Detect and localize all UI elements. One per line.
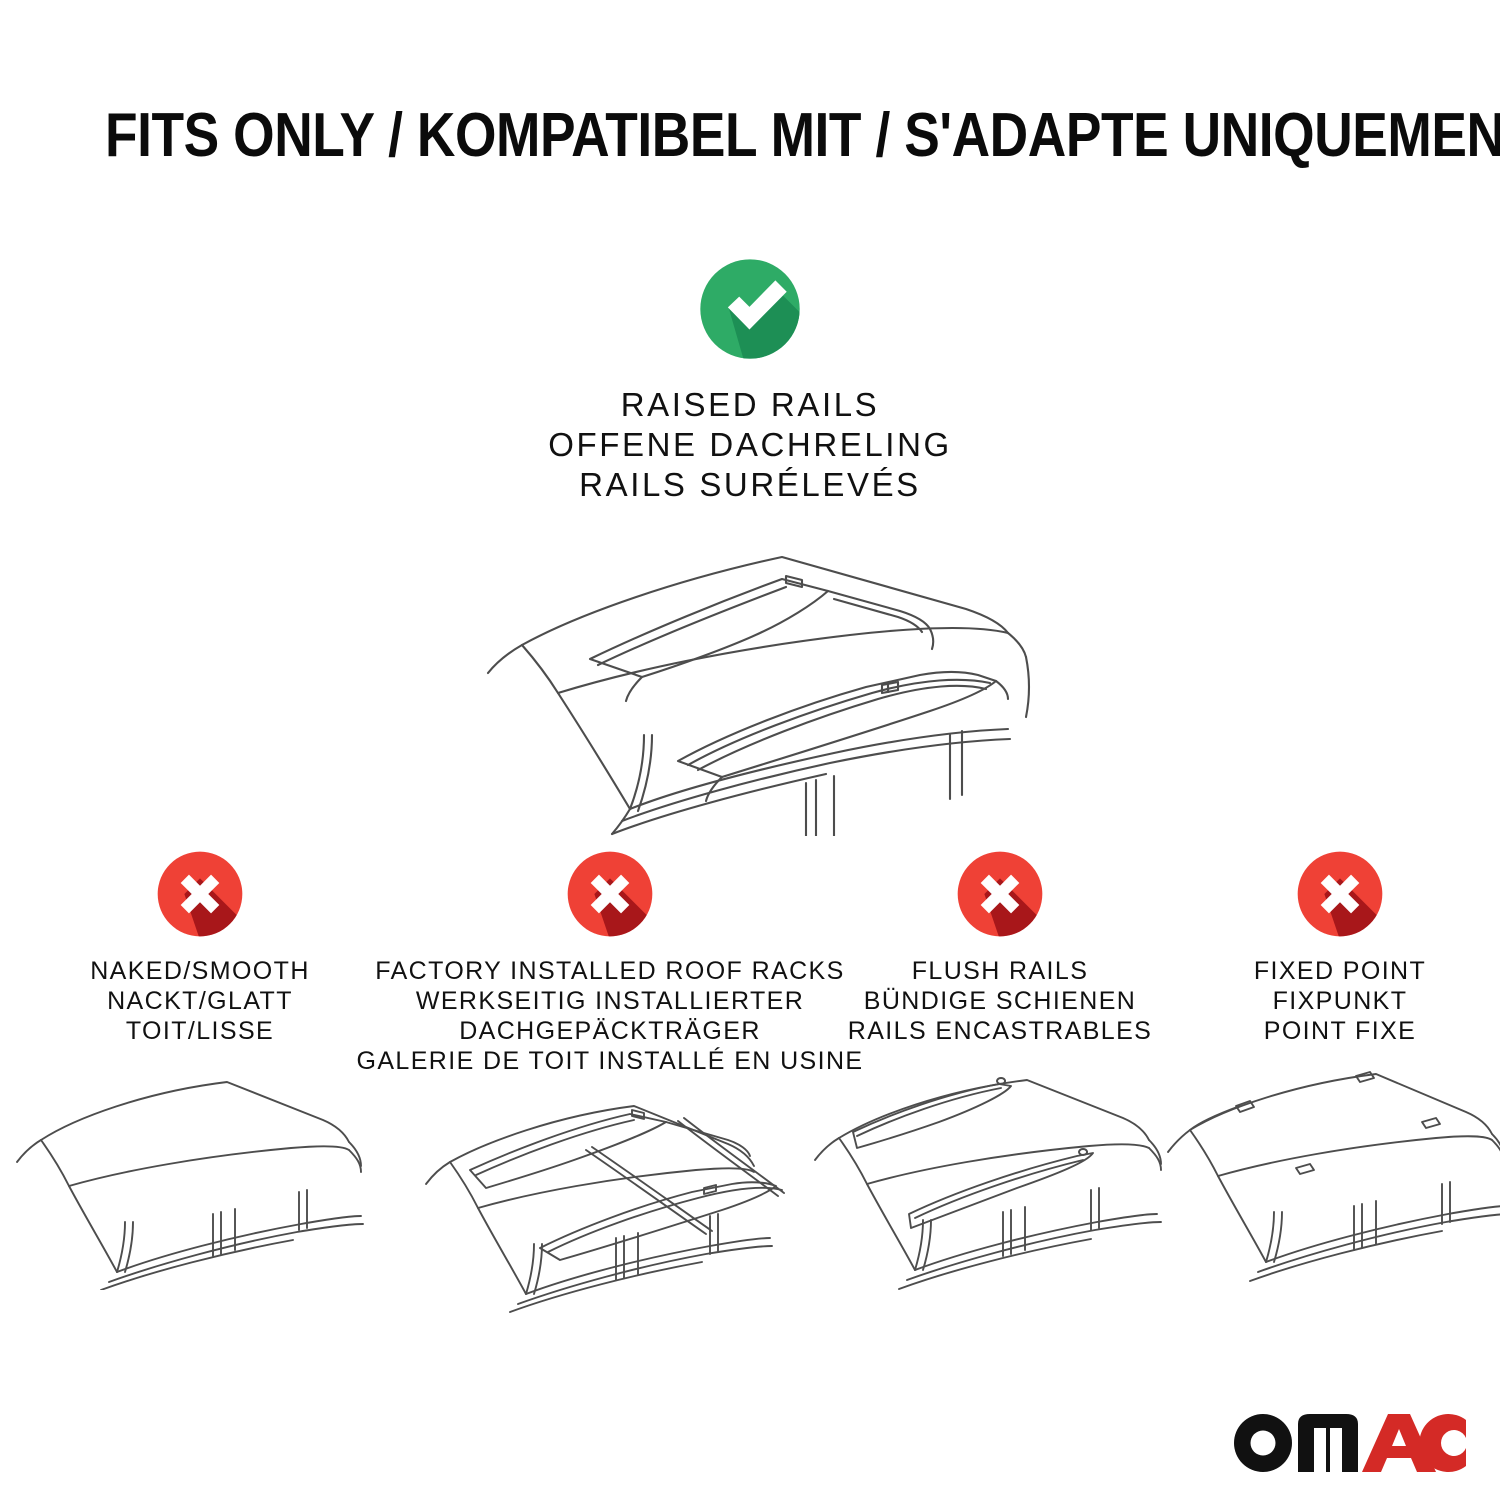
page-title: FITS ONLY / KOMPATIBEL MIT / S'ADAPTE UN… xyxy=(105,103,1395,169)
compatible-labels: RAISED RAILS OFFENE DACHRELING RAILS SUR… xyxy=(548,385,952,505)
compatible-label-de: OFFENE DACHRELING xyxy=(548,425,952,465)
logo-letter-m xyxy=(1298,1414,1358,1472)
label-line-en: NAKED/SMOOTH xyxy=(90,956,310,986)
label-line-en: FACTORY INSTALLED ROOF RACKS xyxy=(357,956,864,986)
check-circle-icon xyxy=(696,255,804,363)
car-roof-factory-rack-illustration xyxy=(410,1090,810,1325)
label-line-fr: RAILS ENCASTRABLES xyxy=(848,1016,1152,1046)
incompatible-section: NAKED/SMOOTH NACKT/GLATT TOIT/LISSE xyxy=(0,848,1500,1325)
x-circle-icon xyxy=(954,848,1046,940)
incompatible-item-naked-smooth: NAKED/SMOOTH NACKT/GLATT TOIT/LISSE xyxy=(0,848,400,1295)
x-circle-icon xyxy=(1294,848,1386,940)
car-roof-flush-rails-illustration xyxy=(805,1060,1195,1295)
compatible-label-en: RAISED RAILS xyxy=(548,385,952,425)
car-roof-naked-smooth-illustration xyxy=(5,1060,395,1295)
incompatible-item-flush-rails: FLUSH RAILS BÜNDIGE SCHIENEN RAILS ENCAS… xyxy=(820,848,1180,1295)
logo-letter-o xyxy=(1234,1414,1292,1472)
incompatible-item-factory-rack: FACTORY INSTALLED ROOF RACKS WERKSEITIG … xyxy=(400,848,820,1325)
label-line-fr: GALERIE DE TOIT INSTALLÉ EN USINE xyxy=(357,1046,864,1076)
label-line-fr: POINT FIXE xyxy=(1254,1016,1426,1046)
incompatible-labels: FACTORY INSTALLED ROOF RACKS WERKSEITIG … xyxy=(357,956,864,1076)
incompatible-labels: NAKED/SMOOTH NACKT/GLATT TOIT/LISSE xyxy=(90,956,310,1046)
label-line-fr: TOIT/LISSE xyxy=(90,1016,310,1046)
incompatible-item-fixed-point: FIXED POINT FIXPUNKT POINT FIXE xyxy=(1180,848,1500,1295)
compatible-section: RAISED RAILS OFFENE DACHRELING RAILS SUR… xyxy=(0,255,1500,836)
label-line-de: NACKT/GLATT xyxy=(90,986,310,1016)
incompatible-labels: FLUSH RAILS BÜNDIGE SCHIENEN RAILS ENCAS… xyxy=(848,956,1152,1046)
label-line-de: BÜNDIGE SCHIENEN xyxy=(848,986,1152,1016)
omac-logo: OMAC xyxy=(1234,1414,1466,1472)
label-line-de: FIXPUNKT xyxy=(1254,986,1426,1016)
x-circle-icon xyxy=(564,848,656,940)
compatible-label-fr: RAILS SURÉLEVÉS xyxy=(548,465,952,505)
label-line-de-1: WERKSEITIG INSTALLIERTER xyxy=(357,986,864,1016)
car-roof-fixed-point-illustration xyxy=(1160,1060,1500,1295)
car-roof-raised-rails-illustration xyxy=(430,521,1070,836)
label-line-en: FIXED POINT xyxy=(1254,956,1426,986)
label-line-en: FLUSH RAILS xyxy=(848,956,1152,986)
x-circle-icon xyxy=(154,848,246,940)
label-line-de-2: DACHGEPÄCKTRÄGER xyxy=(357,1016,864,1046)
incompatible-labels: FIXED POINT FIXPUNKT POINT FIXE xyxy=(1254,956,1426,1046)
